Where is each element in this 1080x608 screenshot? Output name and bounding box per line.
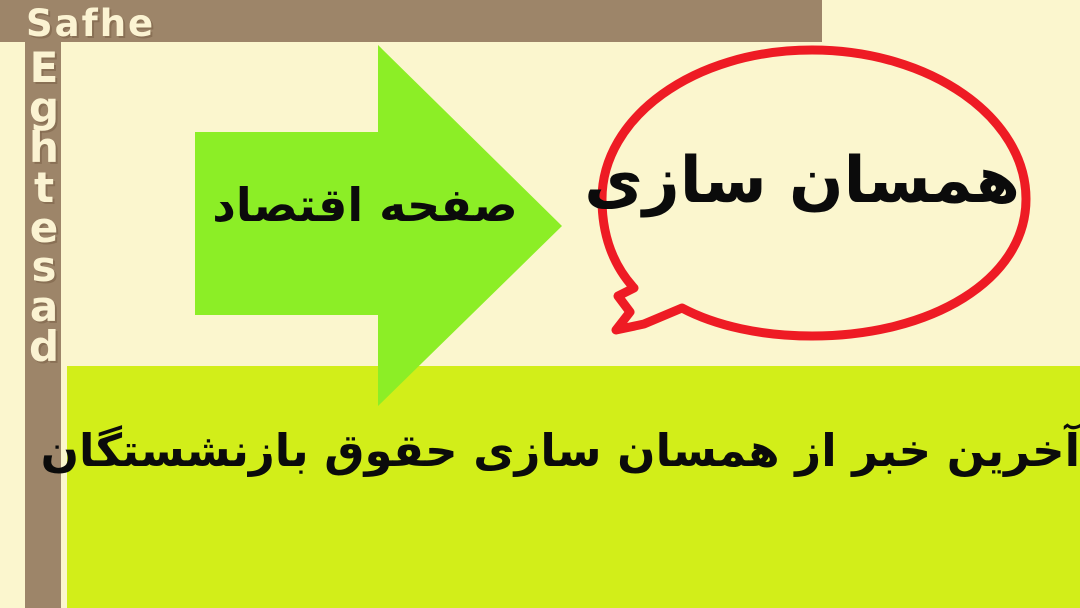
- brand-letter: d: [29, 327, 59, 367]
- arrow-label: صفحه اقتصاد: [185, 178, 545, 232]
- brand-letter: t: [34, 168, 54, 208]
- brand-wordmark-eghtesad: E g h t e s a d: [18, 48, 70, 367]
- poster-canvas: Safhe E g h t e s a d صفحه اقتصاد همسان …: [0, 0, 1080, 608]
- headline-text: آخرین خبر از همسان سازی حقوق بازنشستگان: [67, 424, 1080, 478]
- brand-letter: g: [29, 88, 59, 128]
- speech-bubble-label: همسان سازی: [600, 148, 1020, 215]
- brand-wordmark-safhe: Safhe: [26, 5, 155, 42]
- brand-letter: E: [30, 48, 59, 88]
- brand-letter: h: [29, 128, 59, 168]
